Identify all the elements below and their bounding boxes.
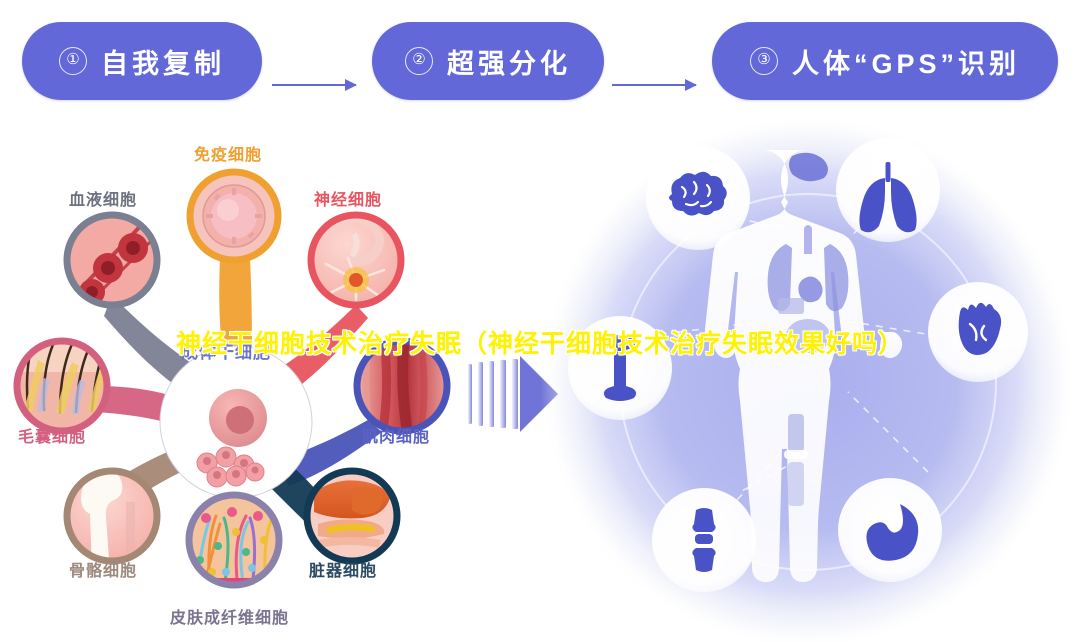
cell-label-skin-fibroblast: 皮肤成纤维细胞 <box>170 604 289 628</box>
figure-abdomen <box>786 319 830 353</box>
cell-label-bone: 骨骼细胞 <box>69 557 137 581</box>
cell-node-immune <box>190 172 278 260</box>
knee-joint-icon <box>692 508 715 572</box>
step-number-2: ② <box>405 47 433 75</box>
step-connector-1 <box>272 84 356 86</box>
step-number-1: ① <box>59 47 87 75</box>
cell-node-organ <box>307 471 397 561</box>
icon-node-brain[interactable] <box>646 146 750 250</box>
cell-label-hair-follicle: 毛囊细胞 <box>18 423 86 447</box>
step-label-2: 超强分化 <box>447 42 571 81</box>
step-pill-1[interactable]: ① 自我复制 <box>22 22 262 100</box>
figure-knee-marker <box>784 450 808 459</box>
icon-node-lungs[interactable] <box>836 138 940 242</box>
center-stem-cell <box>160 346 312 498</box>
cell-node-nerve <box>311 215 401 305</box>
cell-node-skin-fibroblast <box>186 492 282 590</box>
cell-label-center-stem: 成体干细胞 <box>181 338 271 363</box>
step-pill-2[interactable]: ② 超强分化 <box>372 22 604 100</box>
cell-label-nerve: 神经细胞 <box>314 186 382 210</box>
icon-node-heart[interactable] <box>928 282 1028 382</box>
figure-tibia-marker <box>788 462 804 506</box>
infographic-canvas: ① 自我复制 ② 超强分化 ③ 人体“GPS”识别 <box>0 0 1080 642</box>
cell-label-immune: 免疫细胞 <box>194 141 262 165</box>
cell-label-blood: 血液细胞 <box>69 186 137 210</box>
step-label-3: 人体“GPS”识别 <box>792 42 1020 81</box>
arrow-right-icon <box>345 79 357 91</box>
step-connector-2 <box>612 84 696 86</box>
figure-trachea <box>804 225 812 254</box>
figure-forearm-marker <box>778 298 804 314</box>
step-number-3: ③ <box>750 47 778 75</box>
stem-cell-differentiation-diagram: 血液细胞 免疫细胞 神经细胞 肌肉细胞 脏器细胞 皮肤成纤维细胞 骨骼细胞 毛囊… <box>0 120 500 642</box>
cell-node-hair-follicle <box>14 334 110 434</box>
icon-node-bone[interactable] <box>568 316 672 420</box>
cell-node-muscle <box>355 338 451 436</box>
icon-node-kidney[interactable] <box>838 478 942 582</box>
process-steps: ① 自我复制 ② 超强分化 ③ 人体“GPS”识别 <box>0 22 1080 104</box>
step-pill-3[interactable]: ③ 人体“GPS”识别 <box>712 22 1058 100</box>
human-body-gps-diagram <box>540 120 1080 642</box>
cell-label-organ: 脏器细胞 <box>309 557 377 581</box>
icon-node-knee-joint[interactable] <box>652 488 756 592</box>
step-label-1: 自我复制 <box>101 42 225 81</box>
cell-node-blood <box>60 212 170 308</box>
figure-femur-marker <box>788 414 804 452</box>
cell-label-muscle: 肌肉细胞 <box>362 423 430 447</box>
arrow-right-icon <box>685 79 697 91</box>
